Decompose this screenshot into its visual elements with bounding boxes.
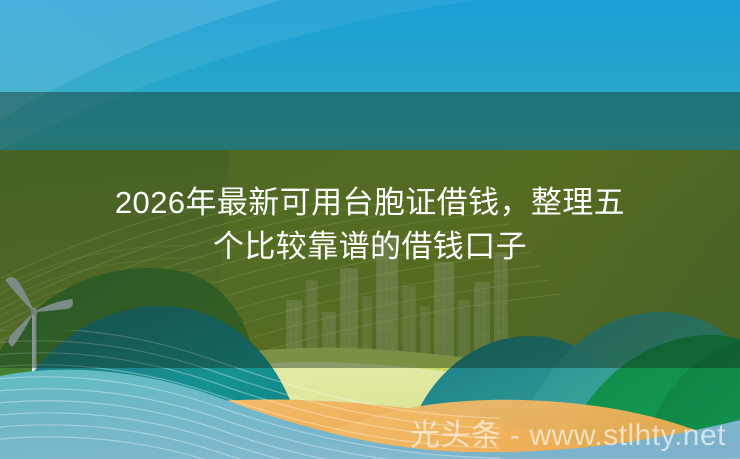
page-title: 2026年最新可用台胞证借钱，整理五 个比较靠谱的借钱口子 xyxy=(0,181,740,269)
site-watermark: 光头条 - www.stlhty.net xyxy=(410,417,726,455)
page-title-line-2: 个比较靠谱的借钱口子 xyxy=(18,225,722,269)
text-layer: 2026年最新可用台胞证借钱，整理五 个比较靠谱的借钱口子 光头条 - www.… xyxy=(0,0,740,459)
page-title-line-1: 2026年最新可用台胞证借钱，整理五 xyxy=(18,181,722,225)
article-cover-banner: 2026年最新可用台胞证借钱，整理五 个比较靠谱的借钱口子 光头条 - www.… xyxy=(0,0,740,459)
